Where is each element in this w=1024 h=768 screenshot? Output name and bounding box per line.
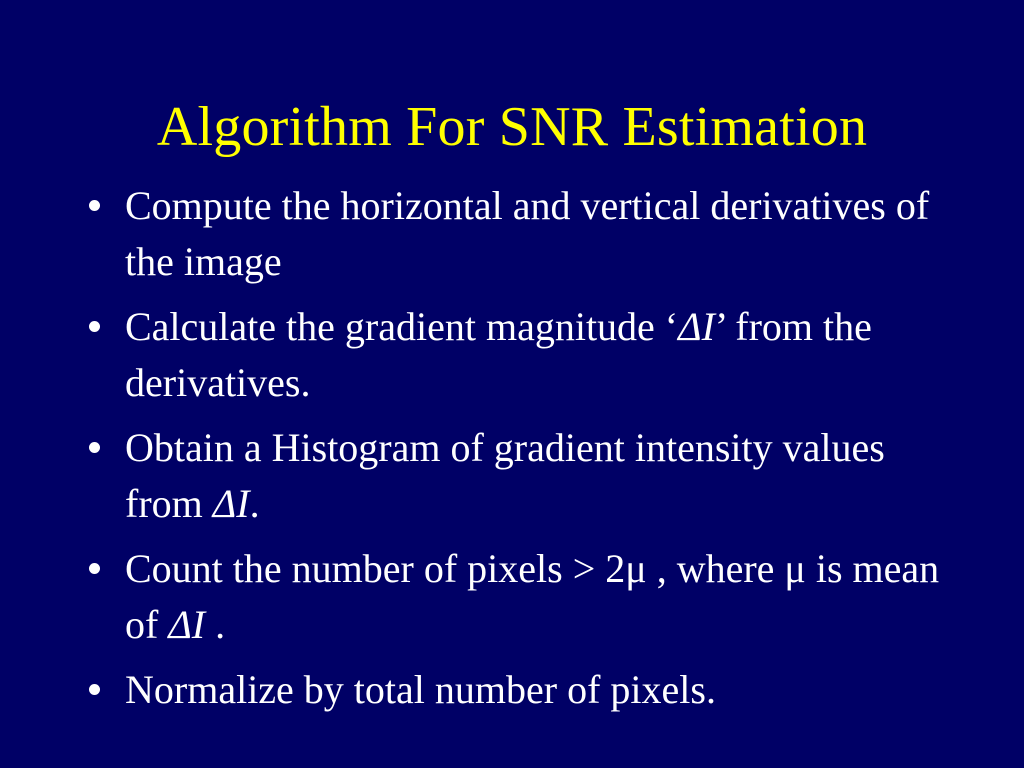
bullet-dot-icon <box>89 684 100 695</box>
presentation-slide: Algorithm For SNR Estimation Compute the… <box>0 0 1024 768</box>
bullet-dot-icon <box>89 321 100 332</box>
bullet-dot-icon <box>89 563 100 574</box>
bullet-item: Count the number of pixels > 2μ , where … <box>80 541 960 653</box>
bullet-item: Compute the horizontal and vertical deri… <box>80 178 960 290</box>
bullet-text: Normalize by total number of pixels. <box>125 662 960 718</box>
bullet-dot-icon <box>89 200 100 211</box>
bullet-text: Compute the horizontal and vertical deri… <box>125 178 960 290</box>
bullet-text: Calculate the gradient magnitude ‘ΔI’ fr… <box>125 299 960 411</box>
bullet-list: Compute the horizontal and vertical deri… <box>80 178 960 727</box>
delta-i-symbol: ΔI <box>213 481 250 526</box>
bullet-item: Normalize by total number of pixels. <box>80 662 960 718</box>
delta-i-symbol: ΔI <box>168 602 205 647</box>
bullet-text: Obtain a Histogram of gradient intensity… <box>125 420 960 532</box>
delta-i-symbol: ΔI <box>678 304 715 349</box>
bullet-dot-icon <box>89 442 100 453</box>
bullet-item: Obtain a Histogram of gradient intensity… <box>80 420 960 532</box>
bullet-item: Calculate the gradient magnitude ‘ΔI’ fr… <box>80 299 960 411</box>
bullet-text: Count the number of pixels > 2μ , where … <box>125 541 960 653</box>
slide-title: Algorithm For SNR Estimation <box>0 96 1024 158</box>
